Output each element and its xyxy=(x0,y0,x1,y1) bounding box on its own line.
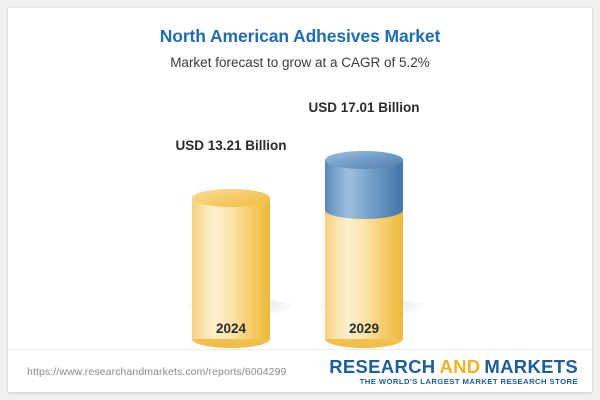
logo-word-markets: MARKETS xyxy=(484,356,578,377)
bar-2024-category-label: 2024 xyxy=(171,321,291,336)
bar-2029-category-label: 2029 xyxy=(304,321,424,336)
logo-tagline: THE WORLD'S LARGEST MARKET RESEARCH STOR… xyxy=(329,377,578,386)
bar-2024-cylinder-top xyxy=(192,189,270,207)
bar-2029[interactable] xyxy=(325,46,403,348)
bar-2029-growth-segment-top xyxy=(325,151,403,169)
bar-2029-base-segment xyxy=(325,210,403,339)
bar-2024[interactable] xyxy=(192,46,270,348)
logo-wordmark: RESEARCHANDMARKETS xyxy=(329,357,578,376)
bar-2024-value-label: USD 13.21 Billion xyxy=(151,138,311,153)
bar-2029-value-label: USD 17.01 Billion xyxy=(284,100,444,115)
screenshot-canvas: North American Adhesives Market Market f… xyxy=(0,0,600,400)
report-url[interactable]: https://www.researchandmarkets.com/repor… xyxy=(27,366,286,378)
chart-card: North American Adhesives Market Market f… xyxy=(8,8,592,392)
research-and-markets-logo[interactable]: RESEARCHANDMARKETS THE WORLD'S LARGEST M… xyxy=(329,357,578,386)
logo-word-research: RESEARCH xyxy=(329,356,435,377)
bar-2024-cylinder-body xyxy=(192,198,270,339)
footer: https://www.researchandmarkets.com/repor… xyxy=(8,350,592,392)
bar-2029-growth-segment-bottom xyxy=(325,201,403,219)
logo-word-and: AND xyxy=(439,356,480,377)
chart-plot-area: USD 13.21 Billion 2024 USD 17.01 Billion… xyxy=(8,8,592,348)
